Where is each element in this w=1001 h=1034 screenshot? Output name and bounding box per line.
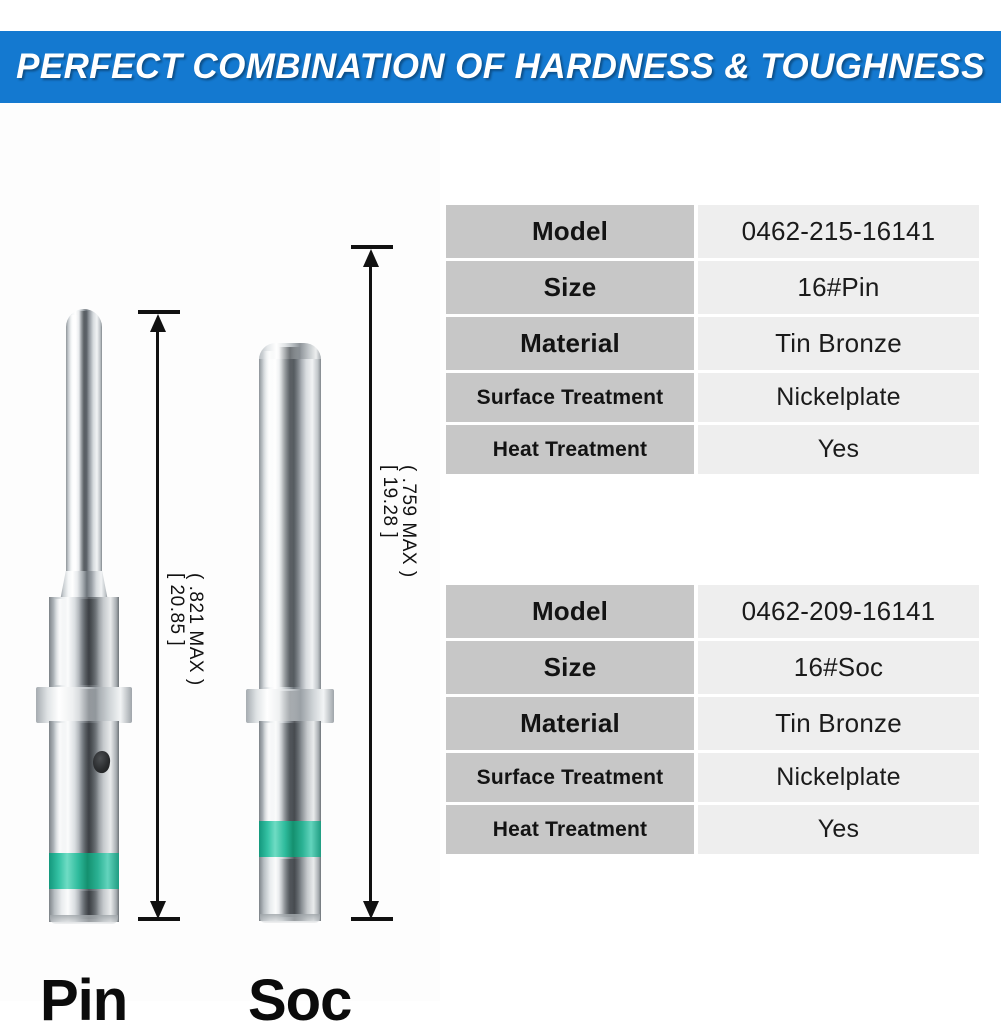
spec-label-size: Size: [446, 261, 694, 314]
table-row: Size 16#Pin: [446, 261, 979, 314]
spec-value-surface-treatment: Nickelplate: [698, 753, 979, 802]
table-row: Material Tin Bronze: [446, 317, 979, 370]
spec-label-size: Size: [446, 641, 694, 694]
table-row: Surface Treatment Nickelplate: [446, 753, 979, 802]
table-row: Surface Treatment Nickelplate: [446, 373, 979, 422]
socket-base-end: [260, 914, 320, 923]
socket-dim-bottom-extension: [351, 917, 393, 921]
socket-retention-flange: [246, 689, 334, 723]
spec-value-size: 16#Soc: [698, 641, 979, 694]
spec-label-heat-treatment: Heat Treatment: [446, 425, 694, 474]
spec-label-surface-treatment: Surface Treatment: [446, 373, 694, 422]
socket-shaft-lower: [259, 721, 321, 823]
table-row: Size 16#Soc: [446, 641, 979, 694]
socket-dim-line: [369, 260, 372, 903]
socket-spec-table: Model 0462-209-16141 Size 16#Soc Materia…: [446, 585, 979, 854]
spec-label-material: Material: [446, 697, 694, 750]
spec-value-material: Tin Bronze: [698, 697, 979, 750]
header-banner: PERFECT COMBINATION OF HARDNESS & TOUGHN…: [0, 31, 1001, 103]
product-photo-area: ( .821 MAX ) [ 20.85 ] ( .759 MAX ) [ 19…: [0, 103, 440, 1001]
spec-label-model: Model: [446, 585, 694, 638]
spec-label-model: Model: [446, 205, 694, 258]
table-row: Heat Treatment Yes: [446, 425, 979, 474]
spec-value-size: 16#Pin: [698, 261, 979, 314]
spec-value-heat-treatment: Yes: [698, 805, 979, 854]
socket-base-barrel: [259, 857, 321, 921]
table-row: Model 0462-215-16141: [446, 205, 979, 258]
table-row: Material Tin Bronze: [446, 697, 979, 750]
socket-dimension-metric: [ 19.28 ]: [378, 465, 400, 538]
pin-spec-table: Model 0462-215-16141 Size 16#Pin Materia…: [446, 205, 979, 474]
socket-shaft-upper: [259, 359, 321, 689]
spec-value-model: 0462-209-16141: [698, 585, 979, 638]
spec-value-model: 0462-215-16141: [698, 205, 979, 258]
table-row: Heat Treatment Yes: [446, 805, 979, 854]
socket-color-band: [259, 821, 321, 859]
spec-value-heat-treatment: Yes: [698, 425, 979, 474]
spec-label-material: Material: [446, 317, 694, 370]
socket-dimension-imperial: ( .759 MAX ): [397, 465, 419, 578]
spec-value-material: Tin Bronze: [698, 317, 979, 370]
spec-label-heat-treatment: Heat Treatment: [446, 805, 694, 854]
table-row: Model 0462-209-16141: [446, 585, 979, 638]
spec-value-surface-treatment: Nickelplate: [698, 373, 979, 422]
socket-contact-image: ( .759 MAX ) [ 19.28 ]: [0, 103, 420, 943]
spec-label-surface-treatment: Surface Treatment: [446, 753, 694, 802]
banner-title: PERFECT COMBINATION OF HARDNESS & TOUGHN…: [16, 47, 985, 87]
